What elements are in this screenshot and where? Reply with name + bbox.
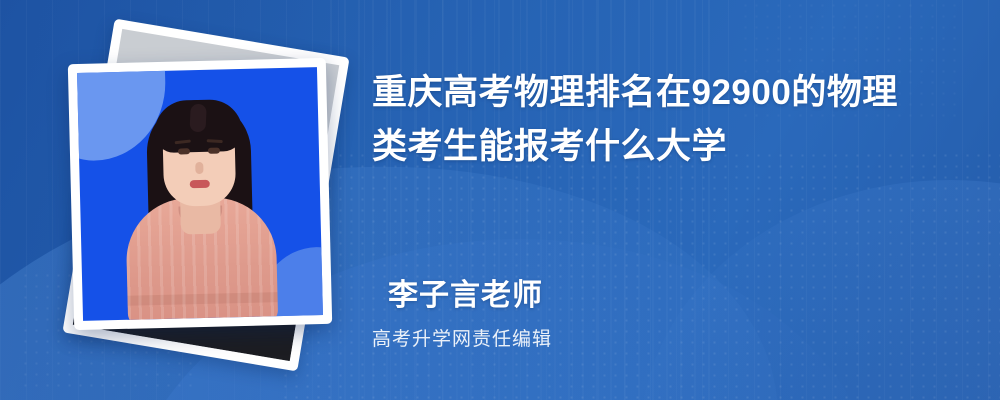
page-title-line-2: 类考生能报考什么大学 bbox=[372, 120, 972, 174]
portrait-waist bbox=[127, 292, 277, 306]
banner-text-block: 重庆高考物理排名在92900的物理 类考生能报考什么大学 bbox=[372, 66, 972, 174]
photo-card-stack bbox=[45, 28, 365, 373]
portrait-nose bbox=[195, 162, 203, 174]
portrait-eye-left bbox=[178, 148, 190, 154]
page-title-line-1: 重庆高考物理排名在92900的物理 bbox=[372, 66, 972, 120]
portrait-eye-right bbox=[208, 148, 220, 154]
author-block: 李子言老师 高考升学网责任编辑 bbox=[388, 270, 552, 351]
portrait-lips bbox=[190, 180, 210, 188]
author-name: 李子言老师 bbox=[388, 270, 552, 314]
article-banner: 重庆高考物理排名在92900的物理 类考生能报考什么大学 李子言老师 高考升学网… bbox=[0, 0, 1000, 400]
portrait-hair-part bbox=[190, 104, 207, 133]
portrait-photo-icon bbox=[77, 67, 323, 321]
page-title: 重庆高考物理排名在92900的物理 类考生能报考什么大学 bbox=[372, 66, 972, 174]
background-swoosh-3 bbox=[640, 180, 1000, 400]
author-role: 高考升学网责任编辑 bbox=[372, 324, 552, 351]
avatar bbox=[68, 58, 332, 330]
